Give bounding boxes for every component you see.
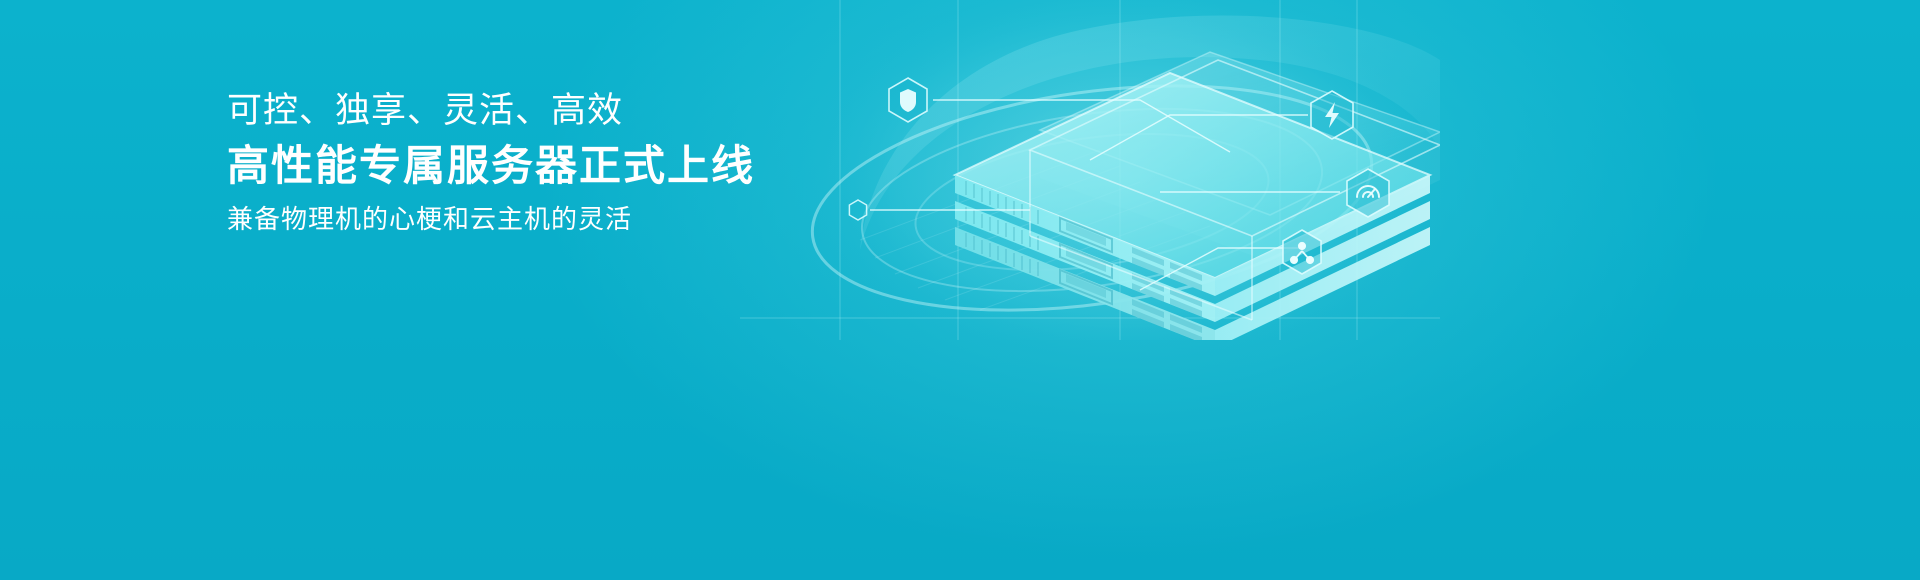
hero-eyebrow: 可控、独享、灵活、高效: [227, 88, 927, 134]
connector-lines: [870, 100, 1340, 290]
lightning-bolt-icon: [1325, 102, 1339, 128]
badge-network: [1283, 230, 1321, 274]
badge-gauge: [1347, 169, 1389, 217]
halo-sweep: [860, 16, 1440, 250]
badge-bolt: [1311, 91, 1353, 139]
server-unit-1: [955, 175, 1430, 296]
speedometer-icon: [1357, 186, 1379, 197]
network-share-icon: [1291, 243, 1313, 263]
server-top: [955, 73, 1430, 278]
hexagon-frame: [1347, 169, 1389, 217]
hexagon-frame: [1283, 230, 1321, 274]
server-unit-2: [955, 201, 1430, 322]
hero-copy: 可控、独享、灵活、高效 高性能专属服务器正式上线 兼备物理机的心梗和云主机的灵活: [227, 88, 927, 238]
hero-subline: 兼备物理机的心梗和云主机的灵活: [227, 200, 927, 238]
glass-box-outline: [1030, 60, 1440, 320]
hero-headline: 高性能专属服务器正式上线: [227, 140, 927, 192]
hero-banner: 可控、独享、灵活、高效 高性能专属服务器正式上线 兼备物理机的心梗和云主机的灵活: [0, 0, 1920, 580]
glass-slab: [1040, 52, 1440, 262]
server-stack: [955, 73, 1430, 340]
hexagon-frame: [1311, 91, 1353, 139]
server-unit-3: [955, 227, 1430, 340]
